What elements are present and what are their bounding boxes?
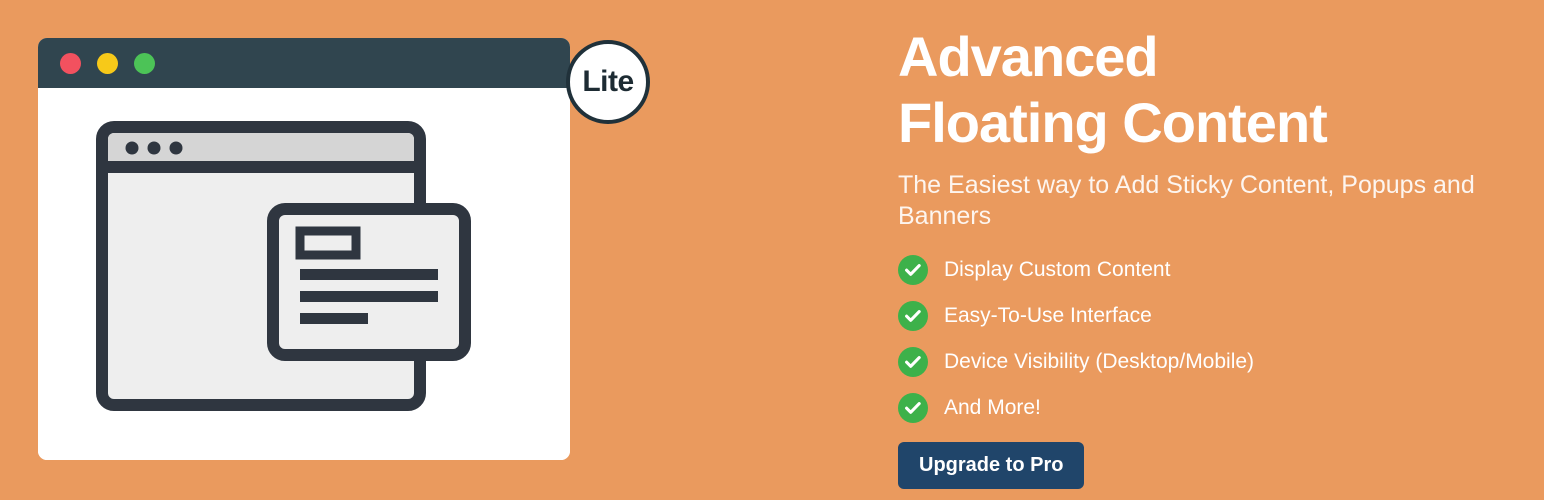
close-dot[interactable] xyxy=(60,53,81,74)
check-circle-icon xyxy=(898,393,928,423)
feature-label: Device Visibility (Desktop/Mobile) xyxy=(944,351,1254,372)
browser-mock: Lite xyxy=(38,38,570,460)
lite-badge-label: Lite xyxy=(582,67,633,97)
feature-label: Display Custom Content xyxy=(944,259,1170,280)
minimize-dot[interactable] xyxy=(97,53,118,74)
list-item: And More! xyxy=(898,385,1518,431)
maximize-dot[interactable] xyxy=(134,53,155,74)
lite-badge: Lite xyxy=(566,40,650,124)
headline-line-1: Advanced xyxy=(898,24,1518,90)
subheadline: The Easiest way to Add Sticky Content, P… xyxy=(898,170,1498,233)
feature-label: And More! xyxy=(944,397,1041,418)
plugin-banner: Lite Advanced Floating Content The Easie… xyxy=(0,0,1544,500)
feature-label: Easy-To-Use Interface xyxy=(944,305,1152,326)
headline-line-2: Floating Content xyxy=(898,90,1518,156)
browser-mock-card xyxy=(38,38,570,460)
browser-body xyxy=(38,88,570,460)
list-item: Display Custom Content xyxy=(898,247,1518,293)
page-title: Advanced Floating Content xyxy=(898,24,1518,156)
list-item: Device Visibility (Desktop/Mobile) xyxy=(898,339,1518,385)
banner-content: Advanced Floating Content The Easiest wa… xyxy=(898,24,1518,489)
check-circle-icon xyxy=(898,255,928,285)
check-circle-icon xyxy=(898,347,928,377)
check-circle-icon xyxy=(898,301,928,331)
upgrade-to-pro-button[interactable]: Upgrade to Pro xyxy=(898,442,1084,489)
floating-content-illustration xyxy=(96,121,476,411)
browser-titlebar xyxy=(38,38,570,88)
feature-list: Display Custom Content Easy-To-Use Inter… xyxy=(898,247,1518,431)
list-item: Easy-To-Use Interface xyxy=(898,293,1518,339)
